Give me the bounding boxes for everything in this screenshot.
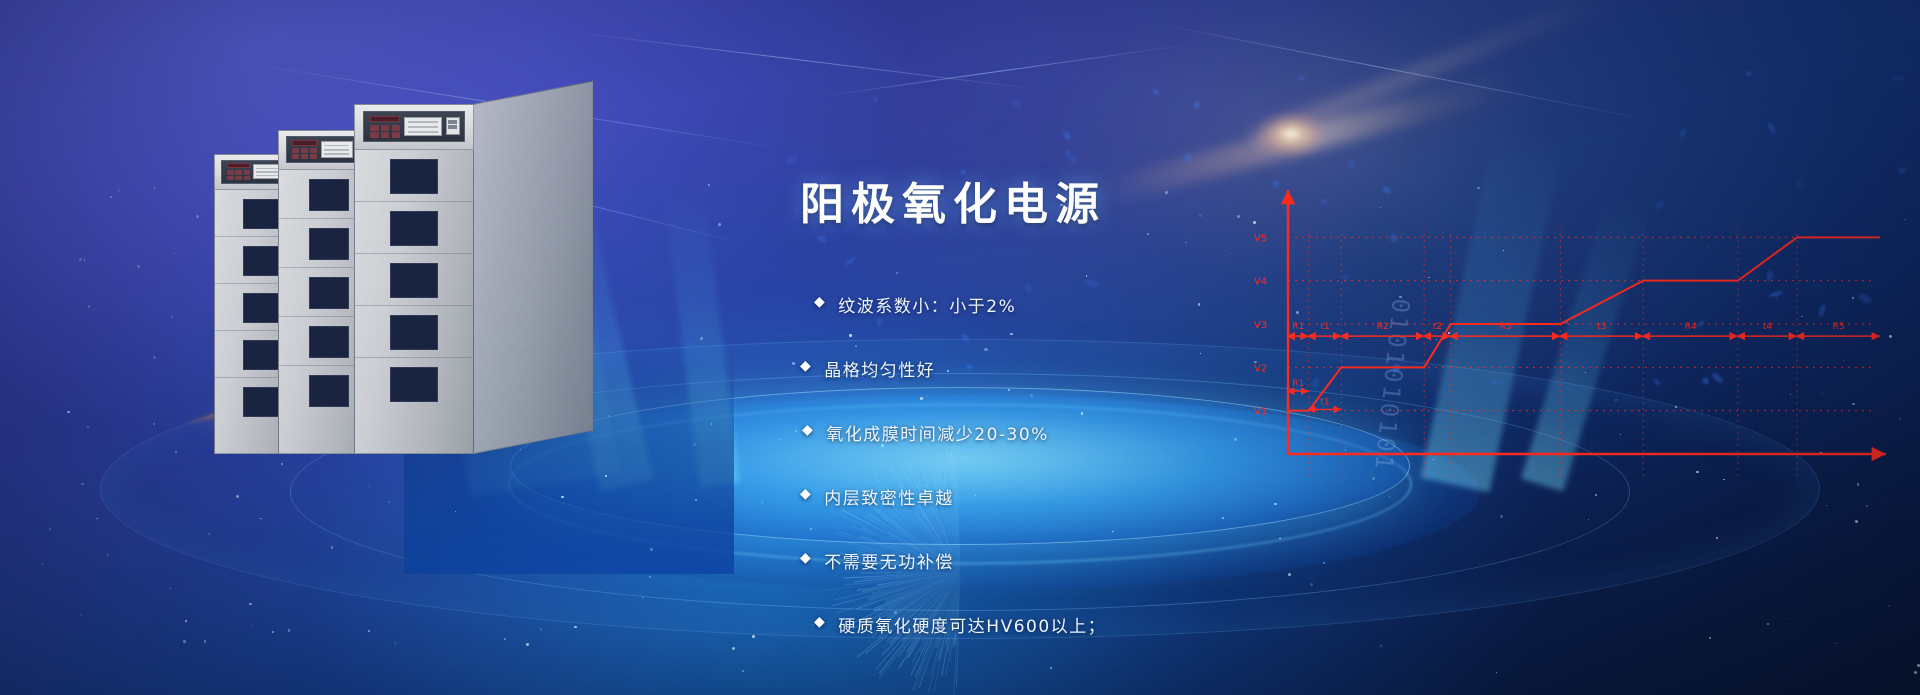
cabinet-key-grid — [370, 125, 400, 138]
product-banner: 0101010101 0101010101 V1V2V3V4V5R1t1R2t2… — [0, 0, 1920, 695]
cabinet-control-head — [354, 104, 474, 150]
cabinet-keypad — [227, 163, 250, 180]
list-item: ◆ 内层致密性卓越 — [800, 484, 1440, 509]
banner-content: 阳极氧化电源 ◆ 纹波系数小：小于2% ◆ 晶格均匀性好 ◆ 氧化成膜时间减少2… — [800, 168, 1440, 676]
particle-blob — [1898, 166, 1907, 174]
particle-dot — [174, 253, 175, 254]
svg-text:R4: R4 — [1685, 322, 1697, 332]
cabinet-label-plate — [404, 117, 442, 137]
diamond-bullet-icon: ◆ — [800, 548, 812, 569]
list-item-label: 内层致密性卓越 — [824, 484, 954, 509]
diamond-bullet-icon: ◆ — [802, 420, 814, 441]
power-cabinet-group — [214, 104, 594, 454]
power-cabinet-front — [354, 104, 474, 454]
particle-blob — [1745, 70, 1752, 77]
diamond-bullet-icon: ◆ — [800, 356, 812, 377]
svg-text:R3: R3 — [1500, 322, 1512, 332]
cabinet-lcd-display — [370, 116, 400, 123]
list-item: ◆ 纹波系数小：小于2% — [814, 292, 1440, 317]
particle-dot — [88, 305, 91, 308]
feature-list: ◆ 纹波系数小：小于2% ◆ 晶格均匀性好 ◆ 氧化成膜时间减少20-30% ◆… — [800, 292, 1440, 637]
list-item: ◆ 不需要无功补偿 — [800, 548, 1440, 573]
particle-blob — [1891, 77, 1906, 81]
svg-text:t4: t4 — [1763, 322, 1773, 332]
cabinet-control-panel — [363, 111, 464, 142]
list-item-label: 氧化成膜时间减少20-30% — [826, 420, 1049, 445]
svg-text:R5: R5 — [1833, 322, 1845, 332]
particle-blob — [872, 96, 879, 103]
list-item-label: 晶格均匀性好 — [824, 356, 935, 381]
cabinet-body — [354, 150, 474, 454]
diamond-bullet-icon: ◆ — [814, 612, 826, 633]
svg-text:t3: t3 — [1597, 322, 1606, 332]
particle-blob — [1767, 121, 1777, 134]
particle-dot — [110, 196, 112, 198]
particle-blob — [1680, 129, 1687, 138]
list-item-label: 硬质氧化硬度可达HV600以上； — [838, 612, 1106, 637]
particle-dot — [196, 215, 199, 218]
diamond-bullet-icon: ◆ — [814, 292, 826, 313]
cabinet-key-grid — [227, 170, 250, 180]
particle-blob — [1010, 96, 1024, 110]
cabinet-label-plate — [321, 141, 353, 158]
particle-dot — [718, 223, 721, 226]
list-item: ◆ 硬质氧化硬度可达HV600以上； — [814, 612, 1440, 637]
particle-dot — [137, 265, 140, 268]
particle-blob — [785, 154, 800, 166]
diamond-bullet-icon: ◆ — [800, 484, 812, 505]
cabinet-keypad — [370, 116, 400, 138]
list-item: ◆ 氧化成膜时间减少20-30% — [802, 420, 1440, 445]
page-title: 阳极氧化电源 — [800, 168, 1440, 232]
particle-dot — [154, 187, 155, 188]
cabinet-lcd-display — [227, 163, 250, 168]
particle-dot — [84, 259, 85, 260]
cabinet-lcd-display — [292, 140, 317, 146]
particle-blob — [1297, 74, 1305, 82]
particle-blob — [1151, 88, 1160, 96]
cabinet-meter — [446, 117, 460, 135]
particle-dot — [708, 184, 710, 186]
cabinet-keypad — [292, 140, 317, 159]
particle-blob — [1062, 130, 1071, 141]
particle-blob — [1064, 148, 1071, 157]
list-item-label: 不需要无功补偿 — [824, 548, 954, 573]
cabinet-key-grid — [292, 148, 317, 159]
list-item-label: 纹波系数小：小于2% — [838, 292, 1016, 317]
particle-blob — [1068, 155, 1076, 165]
particle-dot — [1904, 219, 1905, 220]
particle-blob — [1194, 101, 1200, 107]
particle-dot — [118, 189, 121, 192]
particle-dot — [79, 258, 82, 261]
list-item: ◆ 晶格均匀性好 — [800, 356, 1440, 381]
particle-blob — [1182, 152, 1193, 164]
cabinet-side-face — [473, 81, 593, 454]
